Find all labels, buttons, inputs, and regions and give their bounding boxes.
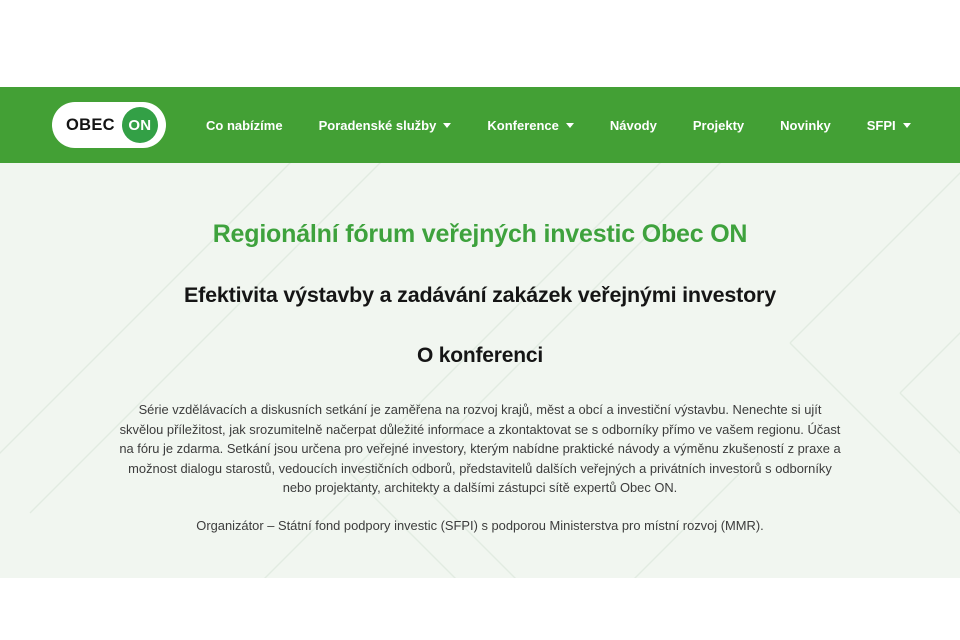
- bottom-white-band: [0, 578, 960, 640]
- about-paragraph: Série vzdělávacích a diskusních setkání …: [117, 400, 843, 498]
- nav-item-co-nabizime[interactable]: Co nabízíme: [206, 118, 283, 133]
- nav-item-label: Konference: [487, 118, 559, 133]
- logo-circle-badge: ON: [122, 107, 158, 143]
- top-white-band: [0, 0, 960, 87]
- logo-text-obec: OBEC: [66, 117, 115, 134]
- nav-item-poradenske-sluzby[interactable]: Poradenské služby: [319, 118, 452, 133]
- nav-item-sfpi[interactable]: SFPI: [867, 118, 911, 133]
- chevron-down-icon: [443, 123, 451, 128]
- site-header: OBEC ON Co nabízíme Poradenské služby Ko…: [0, 87, 960, 163]
- nav-item-label: Co nabízíme: [206, 118, 283, 133]
- nav-item-projekty[interactable]: Projekty: [693, 118, 744, 133]
- logo-text-on: ON: [128, 118, 151, 133]
- nav-item-novinky[interactable]: Novinky: [780, 118, 831, 133]
- chevron-down-icon: [903, 123, 911, 128]
- content-inner: Regionální fórum veřejných investic Obec…: [0, 163, 960, 535]
- nav-item-label: SFPI: [867, 118, 896, 133]
- organizer-paragraph: Organizátor – Státní fond podpory invest…: [117, 516, 843, 536]
- site-logo[interactable]: OBEC ON: [52, 102, 166, 148]
- page-title: Regionální fórum veřejných investic Obec…: [0, 220, 960, 249]
- main-content: Regionální fórum veřejných investic Obec…: [0, 163, 960, 578]
- nav-item-label: Novinky: [780, 118, 831, 133]
- chevron-down-icon: [566, 123, 574, 128]
- nav-item-konference[interactable]: Konference: [487, 118, 574, 133]
- nav-item-label: Projekty: [693, 118, 744, 133]
- nav-item-navody[interactable]: Návody: [610, 118, 657, 133]
- main-navigation: Co nabízíme Poradenské služby Konference…: [206, 118, 911, 133]
- nav-item-label: Návody: [610, 118, 657, 133]
- nav-item-label: Poradenské služby: [319, 118, 437, 133]
- page-subtitle: Efektivita výstavby a zadávání zakázek v…: [0, 283, 960, 308]
- section-heading-o-konferenci: O konferenci: [0, 344, 960, 368]
